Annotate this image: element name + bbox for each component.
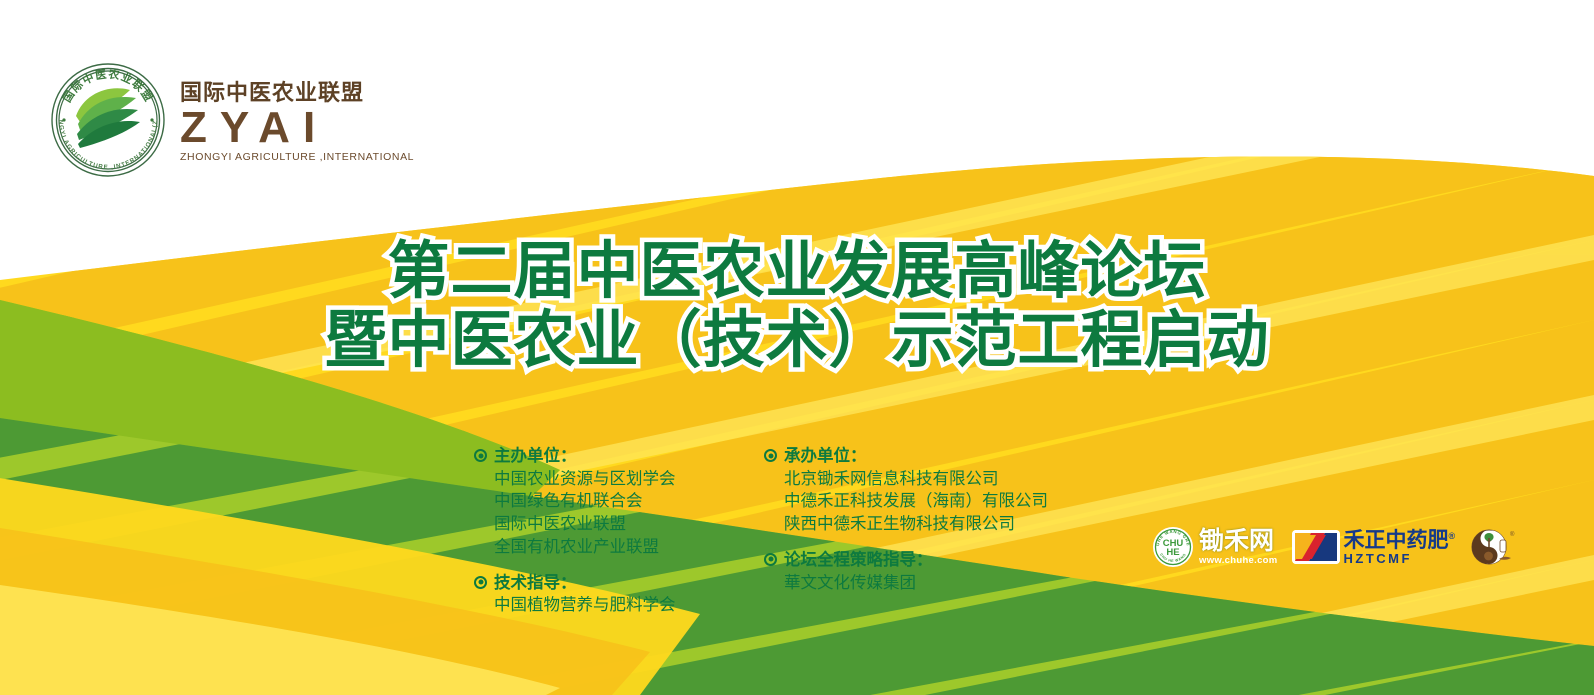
- hztcmf-name: 禾正中药肥®: [1344, 530, 1456, 551]
- info-group-organiser: 承办单位： 北京锄禾网信息科技有限公司 中德禾正科技发展（海南）有限公司 陕西中…: [764, 446, 1054, 536]
- alliance-seal-icon: 国际中医农业联盟 ZHONGYI AGRICULTURE ,INTERNATIO…: [50, 62, 166, 178]
- info-heading-row: 承办单位：: [764, 446, 1054, 467]
- sponsor-logo-strip: CHUHE WANG GREEN CHU HE WANG CHU HE 锄禾网 …: [1152, 526, 1515, 568]
- list-item: 華文文化传媒集团: [784, 572, 1054, 595]
- info-heading: 主办单位：: [494, 446, 577, 467]
- organiser-left-column: 主办单位： 中国农业资源与区划学会 中国绿色有机联合会 国际中医农业联盟 全国有…: [474, 446, 742, 617]
- info-group-strategy-guidance: 论坛全程策略指导： 華文文化传媒集团: [764, 550, 1054, 594]
- info-item-list: 中国农业资源与区划学会 中国绿色有机联合会 国际中医农业联盟 全国有机农业产业联…: [494, 468, 742, 559]
- bullet-icon: [764, 449, 777, 462]
- info-item-list: 華文文化传媒集团: [784, 572, 1054, 595]
- event-banner: 国际中医农业联盟 ZHONGYI AGRICULTURE ,INTERNATIO…: [0, 0, 1594, 695]
- list-item: 北京锄禾网信息科技有限公司: [784, 468, 1054, 491]
- wordmark-english: ZHONGYI AGRICULTURE ,INTERNATIONAL: [180, 152, 414, 163]
- info-item-list: 北京锄禾网信息科技有限公司 中德禾正科技发展（海南）有限公司 陕西中德禾正生物科…: [784, 468, 1054, 536]
- trademark-icon: ®: [1449, 531, 1456, 541]
- hztcmf-text-block: 禾正中药肥® HZTCMF: [1344, 530, 1456, 565]
- hztcmf-mark-icon: [1292, 530, 1340, 564]
- info-heading: 技术指导：: [494, 573, 577, 594]
- list-item: 陕西中德禾正生物科技有限公司: [784, 513, 1054, 536]
- sponsor-logo-chuhe: CHUHE WANG GREEN CHU HE WANG CHU HE 锄禾网 …: [1152, 526, 1278, 568]
- sponsor-logo-hztcmf: 禾正中药肥® HZTCMF: [1292, 530, 1456, 565]
- info-heading: 论坛全程策略指导：: [784, 550, 933, 571]
- info-heading-row: 论坛全程策略指导：: [764, 550, 1054, 571]
- bullet-icon: [764, 553, 777, 566]
- chuhe-url: www.chuhe.com: [1199, 556, 1278, 566]
- wordmark-chinese: 国际中医农业联盟: [180, 82, 414, 104]
- list-item: 中国绿色有机联合会: [494, 490, 742, 513]
- alliance-logo-lockup: 国际中医农业联盟 ZHONGYI AGRICULTURE ,INTERNATIO…: [50, 62, 414, 178]
- info-heading-row: 技术指导：: [474, 573, 742, 594]
- bullet-icon: [474, 576, 487, 589]
- sponsor-logo-yinyang-plant: ®: [1469, 526, 1515, 568]
- svg-text:HE: HE: [1166, 547, 1179, 558]
- organiser-info: 主办单位： 中国农业资源与区划学会 中国绿色有机联合会 国际中医农业联盟 全国有…: [474, 446, 1054, 617]
- trademark-glyph: ®: [1510, 531, 1515, 538]
- list-item: 中德禾正科技发展（海南）有限公司: [784, 490, 1054, 513]
- organiser-right-column: 承办单位： 北京锄禾网信息科技有限公司 中德禾正科技发展（海南）有限公司 陕西中…: [764, 446, 1054, 617]
- info-heading: 承办单位：: [784, 446, 867, 467]
- list-item: 中国植物营养与肥料学会: [494, 594, 742, 617]
- info-group-host: 主办单位： 中国农业资源与区划学会 中国绿色有机联合会 国际中医农业联盟 全国有…: [474, 446, 742, 559]
- chuhe-text-block: 锄禾网 www.chuhe.com: [1199, 529, 1278, 566]
- hztcmf-name-text: 禾正中药肥: [1344, 529, 1449, 552]
- chuhe-name: 锄禾网: [1199, 529, 1278, 554]
- info-group-tech-guidance: 技术指导： 中国植物营养与肥料学会: [474, 573, 742, 617]
- alliance-wordmark: 国际中医农业联盟 ZYAI ZHONGYI AGRICULTURE ,INTER…: [180, 78, 414, 162]
- info-item-list: 中国植物营养与肥料学会: [494, 594, 742, 617]
- list-item: 国际中医农业联盟: [494, 513, 742, 536]
- hztcmf-acronym: HZTCMF: [1344, 552, 1456, 565]
- list-item: 全国有机农业产业联盟: [494, 536, 742, 559]
- bullet-icon: [474, 449, 487, 462]
- chuhe-seal-icon: CHUHE WANG GREEN CHU HE WANG CHU HE: [1152, 526, 1194, 568]
- info-heading-row: 主办单位：: [474, 446, 742, 467]
- wordmark-acronym: ZYAI: [180, 107, 414, 149]
- list-item: 中国农业资源与区划学会: [494, 468, 742, 491]
